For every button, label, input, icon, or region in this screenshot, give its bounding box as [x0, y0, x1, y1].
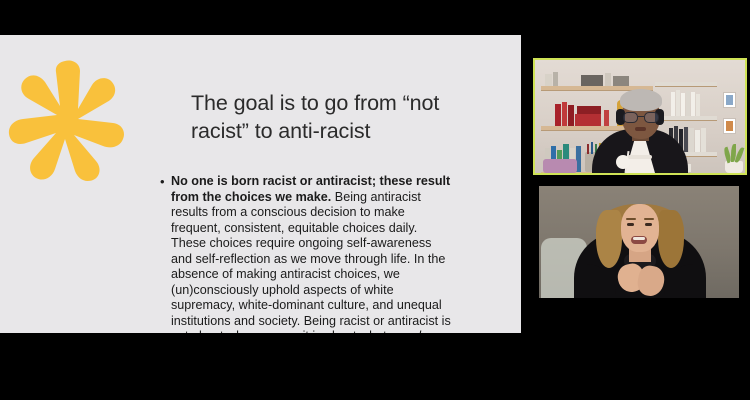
- bullet-rest-3: .: [428, 329, 432, 333]
- conference-screen: The goal is to go from “not racist” to a…: [0, 0, 750, 400]
- desk-object: [543, 159, 577, 173]
- presenter-person: [592, 87, 688, 173]
- asl-interpreter-video-tile[interactable]: [533, 182, 747, 318]
- asl-interpreter-person: [574, 190, 706, 298]
- bullet-rest-2: ; it is about what you: [296, 329, 414, 333]
- wall-frame-top: [723, 92, 736, 108]
- shared-slide: The goal is to go from “not racist” to a…: [0, 35, 521, 333]
- bullet-list-item: • No one is born racist or antiracist; t…: [160, 174, 452, 333]
- bullet-italic-do: do: [414, 329, 428, 333]
- presenter-video-feed: [535, 60, 745, 173]
- bullet-italic-are: are: [277, 329, 295, 333]
- bullet-rest-1: Being antiracist results from a consciou…: [171, 190, 451, 333]
- slide-body: • No one is born racist or antiracist; t…: [160, 174, 452, 333]
- bullet-paragraph: No one is born racist or antiracist; the…: [171, 174, 452, 333]
- wall-frame-bottom: [723, 118, 736, 134]
- potted-plant: [721, 143, 745, 173]
- asterisk-starburst-icon: [8, 57, 132, 185]
- bullet-marker: •: [160, 174, 171, 333]
- slide-title: The goal is to go from “not racist” to a…: [191, 90, 491, 145]
- asl-interpreter-video-feed: [533, 182, 747, 318]
- presenter-video-tile[interactable]: [533, 58, 747, 175]
